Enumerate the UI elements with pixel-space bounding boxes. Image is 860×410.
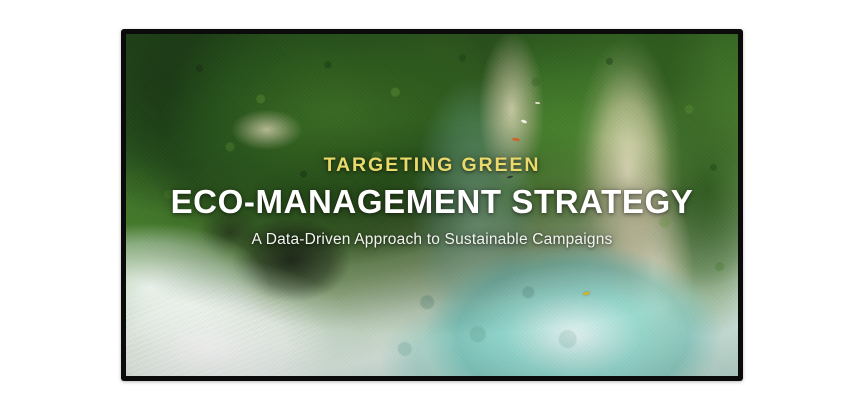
slide-eyebrow-text: TARGETING GREEN [140,154,724,176]
slide-subhead-text: A Data-Driven Approach to Sustainable Ca… [140,231,724,250]
slide-canvas[interactable]: TARGETING GREEN ECO-MANAGEMENT STRATEGY … [126,34,738,376]
slide-headline-text: ECO-MANAGEMENT STRATEGY [140,184,724,220]
slide-title-block: TARGETING GREEN ECO-MANAGEMENT STRATEGY … [126,154,738,249]
slide-frame[interactable]: TARGETING GREEN ECO-MANAGEMENT STRATEGY … [121,29,743,381]
slide-preview-root: TARGETING GREEN ECO-MANAGEMENT STRATEGY … [0,0,860,410]
